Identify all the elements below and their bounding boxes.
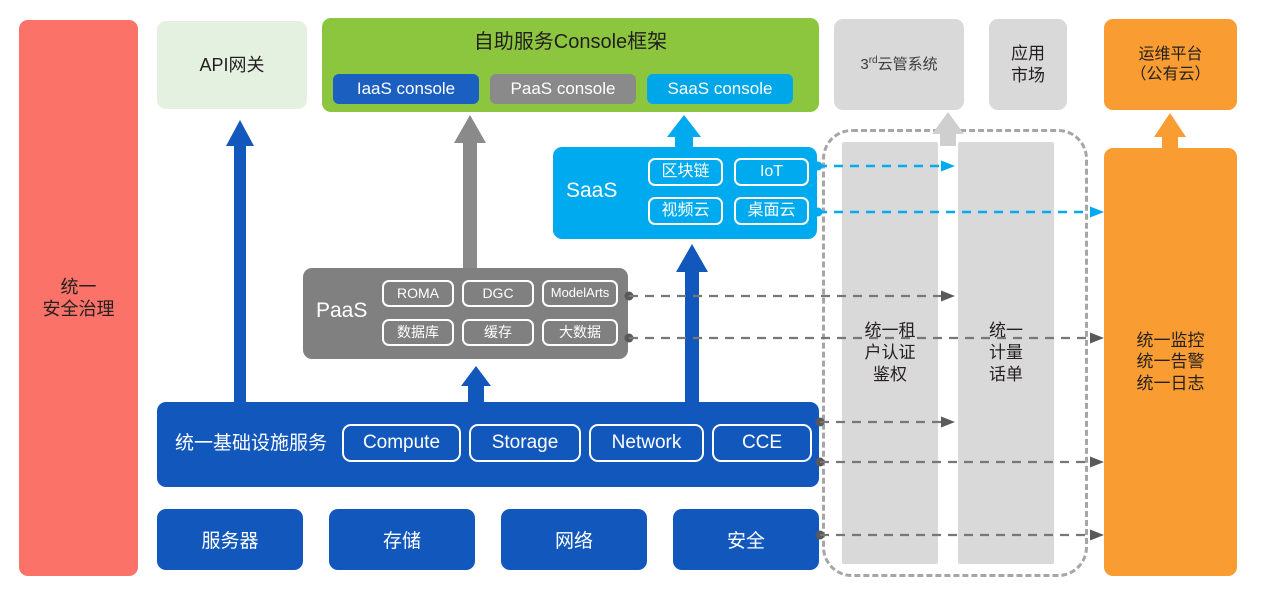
infra-service-cce-label: CCE [742, 431, 782, 455]
self-service-console-frame[interactable]: 自助服务Console框架 IaaS console PaaS console … [322, 18, 819, 112]
paas-service-modelarts-label: ModelArts [551, 285, 610, 301]
ops-platform-top-label: 运维平台 （公有云） [1130, 45, 1210, 85]
saas-service-desktop-cloud-label: 桌面云 [747, 201, 795, 221]
saas-service-blockchain-label: 区块链 [661, 162, 709, 182]
saas-to-saas-console-arrow [667, 115, 701, 147]
third-party-suffix: 云管系统 [878, 56, 938, 73]
paas-service-bigdata[interactable]: 大数据 [542, 319, 618, 346]
infra-to-paas-arrow [461, 366, 491, 402]
third-party-label: 3rd云管系统 [860, 55, 937, 75]
saas-console-chip[interactable]: SaaS console [647, 74, 793, 104]
infra-to-saas-arrow [676, 244, 708, 402]
unified-infrastructure-label: 统一基础设施服务 [175, 432, 327, 456]
saas-layer-label: SaaS [566, 178, 617, 204]
paas-service-database-label: 数据库 [397, 324, 439, 342]
saas-service-iot-label: IoT [760, 162, 783, 182]
hardware-box-security-label: 安全 [727, 526, 765, 553]
auth-line-2: 户认证 [865, 342, 916, 364]
infra-service-storage-label: Storage [492, 431, 559, 455]
third-party-prefix: 3 [860, 56, 868, 73]
infra-service-storage[interactable]: Storage [469, 424, 581, 462]
security-line-2: 安全治理 [43, 298, 115, 321]
saas-service-video-cloud-label: 视频云 [661, 201, 709, 221]
infra-service-network-label: Network [612, 431, 682, 455]
app-market-line-1: 应用 [1011, 43, 1045, 64]
hardware-box-security[interactable]: 安全 [673, 509, 819, 570]
third-party-superscript: rd [869, 55, 878, 66]
paas-to-paas-console-arrow [454, 115, 486, 268]
security-governance-panel[interactable]: 统一 安全治理 [19, 20, 138, 576]
ops-platform-panel[interactable]: 统一监控 统一告警 统一日志 [1104, 148, 1237, 576]
ops-line-3: 统一日志 [1137, 373, 1205, 394]
hardware-box-storage-label: 存储 [383, 526, 421, 553]
unified-tenant-auth-column[interactable]: 统一租 户认证 鉴权 [842, 142, 938, 564]
paas-service-cache-label: 缓存 [484, 324, 512, 342]
api-gateway-box[interactable]: API网关 [157, 21, 307, 109]
app-market-line-2: 市场 [1011, 65, 1045, 86]
paas-service-dgc-label: DGC [482, 285, 513, 303]
unified-billing-column[interactable]: 统一 计量 话单 [958, 142, 1054, 564]
saas-layer[interactable]: SaaS 区块链 IoT 视频云 桌面云 [553, 147, 817, 239]
infra-service-compute-label: Compute [363, 431, 440, 455]
infra-service-compute[interactable]: Compute [342, 424, 461, 462]
paas-service-roma-label: ROMA [397, 285, 439, 303]
hardware-box-network-label: 网络 [555, 526, 593, 553]
auth-line-1: 统一租 [865, 320, 916, 342]
paas-service-database[interactable]: 数据库 [382, 319, 454, 346]
infra-service-network[interactable]: Network [589, 424, 704, 462]
security-governance-label: 统一 安全治理 [43, 276, 115, 321]
infra-to-api-gateway-arrow [226, 120, 254, 402]
console-frame-title: 自助服务Console框架 [322, 30, 819, 55]
paas-service-dgc[interactable]: DGC [462, 280, 534, 307]
ops-platform-top-line-1: 运维平台 [1130, 45, 1210, 65]
billing-line-3: 话单 [989, 364, 1023, 386]
security-line-1: 统一 [43, 276, 115, 299]
ops-line-2: 统一告警 [1137, 351, 1205, 372]
saas-service-video-cloud[interactable]: 视频云 [648, 197, 723, 225]
ops-platform-public-cloud-box[interactable]: 运维平台 （公有云） [1104, 19, 1237, 110]
billing-line-2: 计量 [989, 342, 1023, 364]
ops-platform-top-line-2: （公有云） [1130, 65, 1210, 85]
iaas-console-chip[interactable]: IaaS console [333, 74, 479, 104]
saas-service-desktop-cloud[interactable]: 桌面云 [734, 197, 809, 225]
paas-service-cache[interactable]: 缓存 [462, 319, 534, 346]
paas-service-bigdata-label: 大数据 [559, 324, 601, 342]
hardware-box-network[interactable]: 网络 [501, 509, 647, 570]
app-market-box[interactable]: 应用 市场 [989, 19, 1067, 110]
hardware-box-storage[interactable]: 存储 [329, 509, 475, 570]
ops-platform-label: 统一监控 统一告警 统一日志 [1137, 330, 1205, 394]
paas-service-roma[interactable]: ROMA [382, 280, 454, 307]
hardware-box-server[interactable]: 服务器 [157, 509, 303, 570]
paas-console-label: PaaS console [511, 78, 616, 99]
billing-line-1: 统一 [989, 320, 1023, 342]
infra-service-cce[interactable]: CCE [712, 424, 812, 462]
hardware-box-server-label: 服务器 [201, 526, 258, 553]
api-gateway-label: API网关 [199, 54, 264, 77]
third-party-cloud-management-box[interactable]: 3rd云管系统 [834, 19, 964, 110]
ops-platform-up-arrow [1154, 113, 1186, 148]
saas-console-label: SaaS console [668, 78, 773, 99]
paas-layer[interactable]: PaaS ROMA DGC ModelArts 数据库 缓存 大数据 [303, 268, 628, 359]
auth-line-3: 鉴权 [865, 364, 916, 386]
unified-infrastructure-layer[interactable]: 统一基础设施服务 Compute Storage Network CCE [157, 402, 819, 487]
saas-service-iot[interactable]: IoT [734, 158, 809, 186]
unified-tenant-auth-label: 统一租 户认证 鉴权 [865, 320, 916, 386]
architecture-diagram: 统一 安全治理 API网关 自助服务Console框架 IaaS console… [0, 0, 1265, 605]
app-market-label: 应用 市场 [1011, 43, 1045, 86]
paas-service-modelarts[interactable]: ModelArts [542, 280, 618, 307]
ops-line-1: 统一监控 [1137, 330, 1205, 351]
paas-layer-label: PaaS [316, 298, 367, 324]
unified-billing-label: 统一 计量 话单 [989, 320, 1023, 386]
iaas-console-label: IaaS console [357, 78, 455, 99]
paas-console-chip[interactable]: PaaS console [490, 74, 636, 104]
saas-service-blockchain[interactable]: 区块链 [648, 158, 723, 186]
